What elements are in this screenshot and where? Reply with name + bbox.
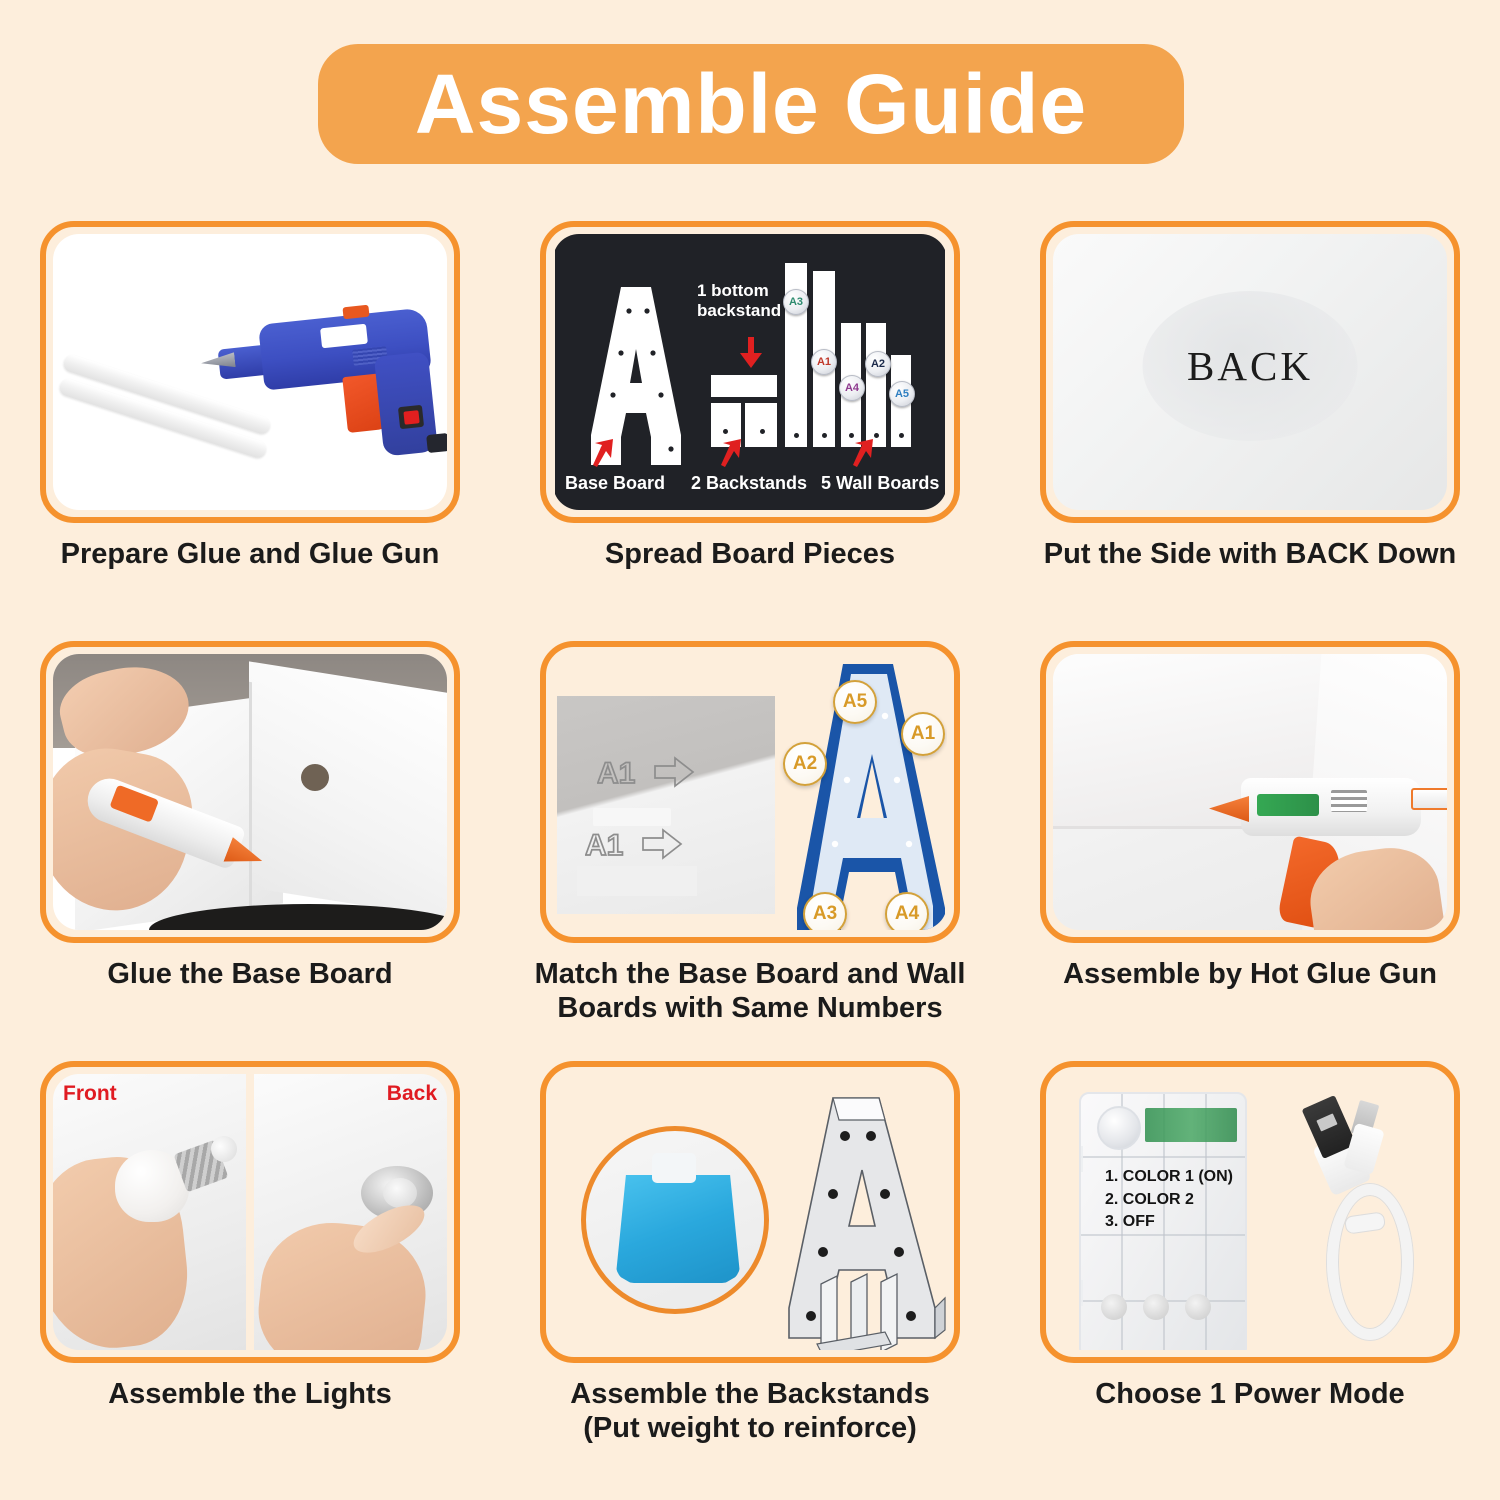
water-bag-weight-photo	[581, 1126, 769, 1314]
step-8-caption-line1: Assemble the Backstands	[570, 1378, 929, 1410]
back-label: BACK	[1187, 342, 1313, 390]
steps-grid: Prepare Glue and Glue Gun	[0, 205, 1500, 1495]
step-3-caption: Put the Side with BACK Down	[1015, 537, 1485, 571]
step-card-8: Assemble the Backstands (Put weight to r…	[500, 1045, 1000, 1495]
page-title-banner: Assemble Guide	[318, 44, 1184, 164]
step-card-9: 1. COLOR 1 (ON) 2. COLOR 2 3. OFF	[1000, 1045, 1500, 1495]
back-light-photo: Back	[254, 1074, 447, 1350]
backstand-piece	[745, 403, 777, 447]
step-card-3: BACK Put the Side with BACK Down	[1000, 205, 1500, 625]
step-2-panel: 1 bottom backstand	[540, 221, 960, 523]
step-5-caption: Match the Base Board and Wall Boards wit…	[515, 957, 985, 1025]
step-card-7: Front Back Assemble the Lights	[0, 1045, 500, 1495]
step-8-panel	[540, 1061, 960, 1363]
step-6-panel	[1040, 641, 1460, 943]
red-up-arrow-icon	[591, 439, 617, 467]
back-label: Back	[387, 1082, 437, 1106]
letter-a-with-backstands	[759, 1092, 947, 1350]
piece-badge-a4: A4	[839, 375, 865, 401]
step-7-panel: Front Back	[40, 1061, 460, 1363]
label-2-backstands: 2 Backstands	[691, 473, 807, 494]
a1-arrow-mark-upper: A1	[597, 754, 727, 792]
bulb-hole-icon	[301, 764, 329, 791]
step-9-panel: 1. COLOR 1 (ON) 2. COLOR 2 3. OFF	[1040, 1061, 1460, 1363]
board-pieces-diagram: 1 bottom backstand	[555, 234, 945, 510]
page-title: Assemble Guide	[415, 56, 1087, 153]
step-4-panel	[40, 641, 460, 943]
step-1-panel	[40, 221, 460, 523]
wall-board-a2	[866, 323, 886, 447]
piece-badge-a3: A3	[783, 289, 809, 315]
bag-cap-icon	[652, 1153, 696, 1183]
svg-text:A1: A1	[585, 829, 623, 862]
power-mode-2: 2. COLOR 2	[1105, 1189, 1245, 1212]
step-3-panel: BACK	[1040, 221, 1460, 523]
power-mode-3: 3. OFF	[1105, 1211, 1245, 1234]
step-5-caption-line2: Boards with Same Numbers	[557, 992, 942, 1024]
letter-badge-a3: A3	[803, 892, 847, 930]
power-mode-1: 1. COLOR 1 (ON)	[1105, 1166, 1245, 1189]
svg-text:A1: A1	[597, 757, 635, 790]
step-8-caption: Assemble the Backstands (Put weight to r…	[515, 1377, 985, 1445]
step-card-4: Glue the Base Board	[0, 625, 500, 1045]
a1-arrow-mark-lower: A1	[585, 826, 715, 864]
water-bag-icon	[616, 1175, 740, 1283]
step-8-caption-line2: (Put weight to reinforce)	[583, 1412, 917, 1444]
step-card-2: 1 bottom backstand	[500, 205, 1000, 625]
step-7-caption: Assemble the Lights	[15, 1377, 485, 1411]
assembled-letter-a-3d: A5 A1 A2 A3 A4	[775, 658, 947, 930]
step-2-caption: Spread Board Pieces	[515, 537, 985, 571]
wall-board-surface	[249, 661, 447, 920]
step-6-caption: Assemble by Hot Glue Gun	[1015, 957, 1485, 991]
letter-badge-a2: A2	[783, 742, 827, 786]
step-card-1: Prepare Glue and Glue Gun	[0, 205, 500, 625]
piece-badge-a1: A1	[811, 349, 837, 375]
piece-badge-a5: A5	[889, 381, 915, 407]
red-up-arrow-icon	[851, 439, 877, 467]
red-down-arrow-icon	[735, 337, 765, 369]
step-4-caption: Glue the Base Board	[15, 957, 485, 991]
step-card-6: Assemble by Hot Glue Gun	[1000, 625, 1500, 1045]
power-switch-icon[interactable]	[1097, 1106, 1141, 1150]
step-1-caption: Prepare Glue and Glue Gun	[15, 537, 485, 571]
letter-badge-a1: A1	[901, 712, 945, 756]
step-9-caption: Choose 1 Power Mode	[1015, 1377, 1485, 1411]
hot-glue-gun-icon	[1205, 774, 1447, 856]
usb-cable-icon	[1281, 1096, 1447, 1350]
red-up-arrow-icon	[719, 439, 745, 467]
backstand-piece	[711, 375, 777, 397]
step-card-5: A1 A1	[500, 625, 1000, 1045]
glue-gun-icon	[203, 286, 447, 471]
letter-badge-a5: A5	[833, 680, 877, 724]
front-label: Front	[63, 1082, 117, 1106]
letter-badge-a4: A4	[885, 892, 929, 930]
label-5-wall-boards: 5 Wall Boards	[821, 473, 939, 494]
step-5-caption-line1: Match the Base Board and Wall	[535, 958, 966, 990]
label-base-board: Base Board	[565, 473, 665, 494]
power-mode-list: 1. COLOR 1 (ON) 2. COLOR 2 3. OFF	[1105, 1166, 1245, 1234]
a1-marking-photo: A1 A1	[557, 696, 775, 914]
step-5-panel: A1 A1	[540, 641, 960, 943]
bottom-backstand-callout: 1 bottom backstand	[697, 281, 781, 322]
front-light-photo: Front	[53, 1074, 246, 1350]
battery-box-icon: 1. COLOR 1 (ON) 2. COLOR 2 3. OFF	[1079, 1092, 1247, 1350]
piece-badge-a2: A2	[865, 351, 891, 377]
letter-a-gray-3d-icon	[759, 1092, 947, 1350]
